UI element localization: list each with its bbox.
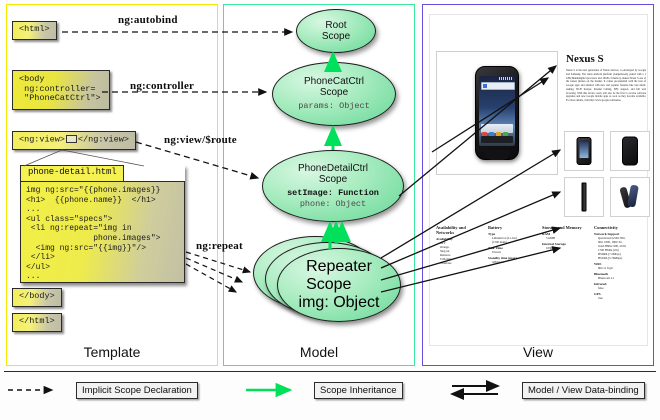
thumbnail-phone-back-icon <box>622 137 638 166</box>
phone-device-image <box>475 66 519 160</box>
template-note-phone-detail: phone-detail.html img ng:src="{{phone.im… <box>20 165 185 283</box>
thumbnail-phone-pair-icon <box>622 185 638 209</box>
legend-icon-green-arrow <box>250 381 308 399</box>
spec-values-2-0: 512MB <box>546 236 590 240</box>
spec-values-1-0: Lithium Ion (Li-Ion) (1500 mAh) <box>492 236 536 244</box>
code-box-ngview: <ng:view></ng:view> <box>12 131 136 150</box>
legend-item-databinding: Model / View Data-binding <box>458 381 645 399</box>
phone-hero-image-frame <box>436 51 558 175</box>
spec-values-0-0: M/T Orange, Sing tel, Reliance T-Mobile,… <box>440 241 480 265</box>
panel-template-label: Template <box>7 344 217 360</box>
connector-label-autobind: ng:autobind <box>118 14 178 26</box>
prop-setimage: setImage: Function <box>287 188 379 198</box>
spec-column-availability: Availability and Networks Availability M… <box>436 225 480 265</box>
connector-label-repeat: ng:repeat <box>196 240 243 252</box>
panel-model-label: Model <box>224 344 414 360</box>
spec-heading-0: Availability and Networks <box>436 225 480 235</box>
view-rendered-page: Nexus S Nexus S is the next generation o… <box>429 14 648 346</box>
panel-view-label: View <box>423 344 653 360</box>
legend-label-databinding: Model / View Data-binding <box>522 382 645 399</box>
view-spec-table: Availability and Networks Availability M… <box>436 225 643 335</box>
spec-column-connectivity: Connectivity Network Support Quad-band G… <box>594 225 644 300</box>
view-product-description: Nexus S is the next generation of Nexus … <box>566 69 646 103</box>
scope-phonecatctrl-prop-params: params: Object <box>298 101 369 111</box>
legend-icon-dashed-arrow <box>12 381 70 399</box>
scope-root: Root Scope <box>296 9 376 53</box>
phone-nav-bar <box>481 136 513 143</box>
legend-item-implicit: Implicit Scope Declaration <box>12 381 198 399</box>
spec-column-battery: Battery Type Lithium Ion (Li-Ion) (1500 … <box>488 225 536 264</box>
legend-divider <box>4 371 656 372</box>
view-thumbnail-4[interactable] <box>610 177 650 217</box>
code-box-html-close: </html> <box>12 313 62 332</box>
scope-repeater-prop-img: img: Object <box>299 294 380 312</box>
view-thumbnail-3[interactable] <box>564 177 604 217</box>
prop-phone: phone: Object <box>300 199 366 209</box>
thumbnail-phone-side-icon <box>582 183 587 212</box>
legend-item-inheritance: Scope Inheritance <box>250 381 403 399</box>
thumbnail-phone-front-icon <box>577 137 592 165</box>
phone-app-dock <box>481 124 513 133</box>
code-box-body-close: </body> <box>12 288 62 307</box>
spec-heading-1: Battery <box>488 225 536 230</box>
connector-label-ngview: ng:view/$route <box>164 134 237 146</box>
phone-chin <box>484 150 510 160</box>
phone-search-bar <box>481 82 515 90</box>
spec-values-3-4: true <box>598 296 644 300</box>
spec-values-3-2: Bluetooth 2.1 <box>598 276 644 280</box>
scope-phonedetailctrl-name: PhoneDetailCtrl Scope <box>298 163 368 185</box>
ngview-placeholder-icon <box>66 135 77 143</box>
legend-label-inheritance: Scope Inheritance <box>314 382 403 399</box>
note-title: phone-detail.html <box>28 167 116 177</box>
scope-repeater-name: Repeater Scope <box>306 258 372 294</box>
spec-values-3-0: Quad-band GSM: 850, 900, 1800, 1900 T2- … <box>598 236 644 260</box>
note-code: img ng:src="{{phone.images}} <h1> {{phon… <box>20 181 185 283</box>
scope-phonecatctrl: PhoneCatCtrl Scope params: Object <box>272 62 396 126</box>
scope-phonecatctrl-name: PhoneCatCtrl Scope <box>304 76 364 98</box>
diagram-canvas: Template Model View <html> <body ng:cont… <box>0 0 660 420</box>
legend-icon-double-arrow <box>458 381 516 399</box>
view-product-title: Nexus S <box>566 53 604 65</box>
ngview-open-tag: <ng:view> <box>19 134 65 144</box>
spec-values-1-2: 428 hours <box>492 260 536 264</box>
spec-column-storage: Storage and Memory RAM 512MB Internal St… <box>542 225 590 250</box>
spec-values-1-1: 6 hours <box>492 250 536 254</box>
code-box-body-open: <body ng:controller= "PhoneCatCtrl"> <box>12 70 110 110</box>
phone-status-bar-icon <box>499 77 513 80</box>
phone-screen <box>479 76 515 146</box>
connector-label-controller: ng:controller <box>130 80 194 92</box>
spec-values-3-1: 802.11 b/g/n <box>598 266 644 270</box>
spec-values-3-3: false <box>598 286 644 290</box>
scope-repeater: Repeater Scope img: Object <box>277 248 401 322</box>
scope-root-name: Root Scope <box>322 20 350 42</box>
spec-heading-3: Connectivity <box>594 225 644 230</box>
view-thumbnail-2[interactable] <box>610 131 650 171</box>
spec-values-2-1: 16384MB <box>546 246 590 250</box>
ngview-close-tag: </ng:view> <box>78 134 129 144</box>
code-box-html-open: <html> <box>12 21 57 40</box>
legend-label-implicit: Implicit Scope Declaration <box>76 382 198 399</box>
scope-phonedetailctrl-props: setImage: Functionphone: Object <box>287 188 379 208</box>
spec-heading-2: Storage and Memory <box>542 225 590 230</box>
scope-phonedetailctrl: PhoneDetailCtrl Scope setImage: Function… <box>262 150 404 222</box>
view-thumbnail-1[interactable] <box>564 131 604 171</box>
